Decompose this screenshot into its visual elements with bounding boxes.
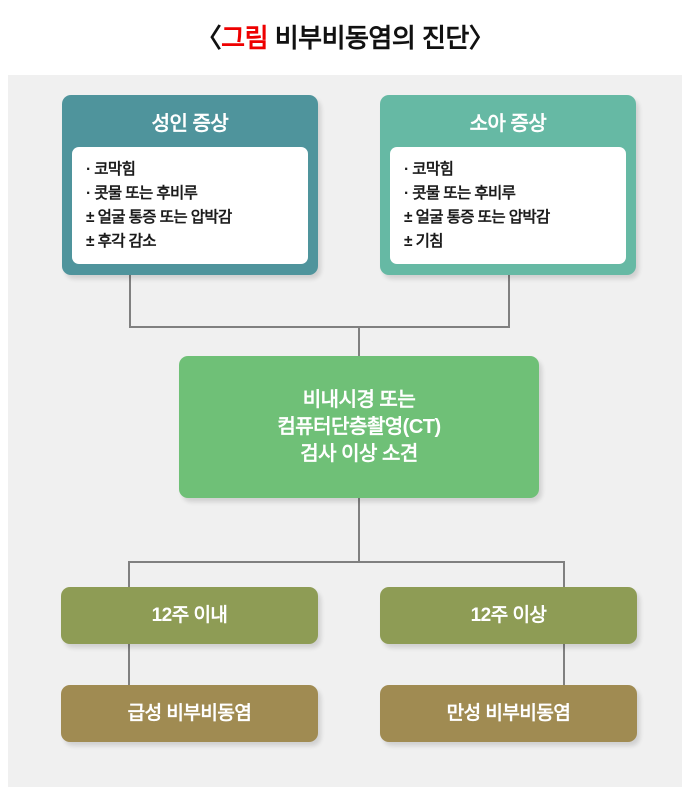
child-symptom-item: ± 기침	[404, 230, 614, 254]
adult-symptoms-card: · 코막힘 · 콧물 또는 후비루 ± 얼굴 통증 또는 압박감 ± 후각 감소	[72, 147, 308, 264]
connector-test-down	[358, 497, 360, 562]
node-duration-long[interactable]: 12주 이상	[380, 587, 637, 644]
child-symptom-item: · 코막힘	[404, 158, 614, 182]
test-finding-line: 컴퓨터단층촬영(CT)	[277, 414, 440, 441]
adult-symptom-item: · 코막힘	[86, 158, 296, 182]
node-diagnosis-chronic[interactable]: 만성 비부비동염	[380, 685, 637, 742]
connector-symptoms-join	[129, 326, 510, 328]
node-adult-symptoms[interactable]: 성인 증상 · 코막힘 · 콧물 또는 후비루 ± 얼굴 통증 또는 압박감 ±…	[62, 95, 318, 275]
node-duration-short[interactable]: 12주 이내	[61, 587, 318, 644]
title-rest: 비부비동염의 진단	[268, 23, 469, 53]
test-finding-line: 비내시경 또는	[277, 387, 440, 414]
title-accent-word: 그림	[221, 23, 268, 53]
connector-duration-split	[128, 561, 565, 563]
child-symptom-item: · 콧물 또는 후비루	[404, 182, 614, 206]
diagnosis-chronic-label: 만성 비부비동염	[447, 701, 571, 727]
connector-short-to-acute	[128, 643, 130, 685]
adult-symptom-item: ± 후각 감소	[86, 230, 296, 254]
title-open-bracket: 〈	[196, 23, 222, 53]
duration-short-label: 12주 이내	[152, 603, 228, 629]
connector-to-test	[358, 326, 360, 356]
connector-long-to-chronic	[563, 643, 565, 685]
adult-symptoms-header: 성인 증상	[62, 95, 318, 147]
test-finding-line: 검사 이상 소견	[277, 441, 440, 468]
node-test-finding[interactable]: 비내시경 또는 컴퓨터단층촬영(CT) 검사 이상 소견	[179, 356, 539, 498]
child-symptoms-card: · 코막힘 · 콧물 또는 후비루 ± 얼굴 통증 또는 압박감 ± 기침	[390, 147, 626, 264]
child-symptoms-header: 소아 증상	[380, 95, 636, 147]
node-diagnosis-acute[interactable]: 급성 비부비동염	[61, 685, 318, 742]
connector-to-short	[128, 561, 130, 588]
title-close-bracket: 〉	[469, 23, 495, 53]
connector-adult-down	[129, 273, 131, 327]
diagram-page: 〈그림 비부비동염의 진단〉 성인 증상 · 코막힘 · 콧물 또는 후비루	[0, 0, 690, 800]
page-title: 〈그림 비부비동염의 진단〉	[0, 18, 690, 55]
adult-symptom-item: · 콧물 또는 후비루	[86, 182, 296, 206]
diagram-canvas: 성인 증상 · 코막힘 · 콧물 또는 후비루 ± 얼굴 통증 또는 압박감 ±…	[8, 75, 682, 787]
connector-to-long	[563, 561, 565, 588]
adult-symptom-item: ± 얼굴 통증 또는 압박감	[86, 206, 296, 230]
test-finding-label: 비내시경 또는 컴퓨터단층촬영(CT) 검사 이상 소견	[277, 387, 440, 468]
node-child-symptoms[interactable]: 소아 증상 · 코막힘 · 콧물 또는 후비루 ± 얼굴 통증 또는 압박감 ±…	[380, 95, 636, 275]
connector-child-down	[508, 273, 510, 327]
child-symptom-item: ± 얼굴 통증 또는 압박감	[404, 206, 614, 230]
duration-long-label: 12주 이상	[471, 603, 547, 629]
diagnosis-acute-label: 급성 비부비동염	[128, 701, 252, 727]
